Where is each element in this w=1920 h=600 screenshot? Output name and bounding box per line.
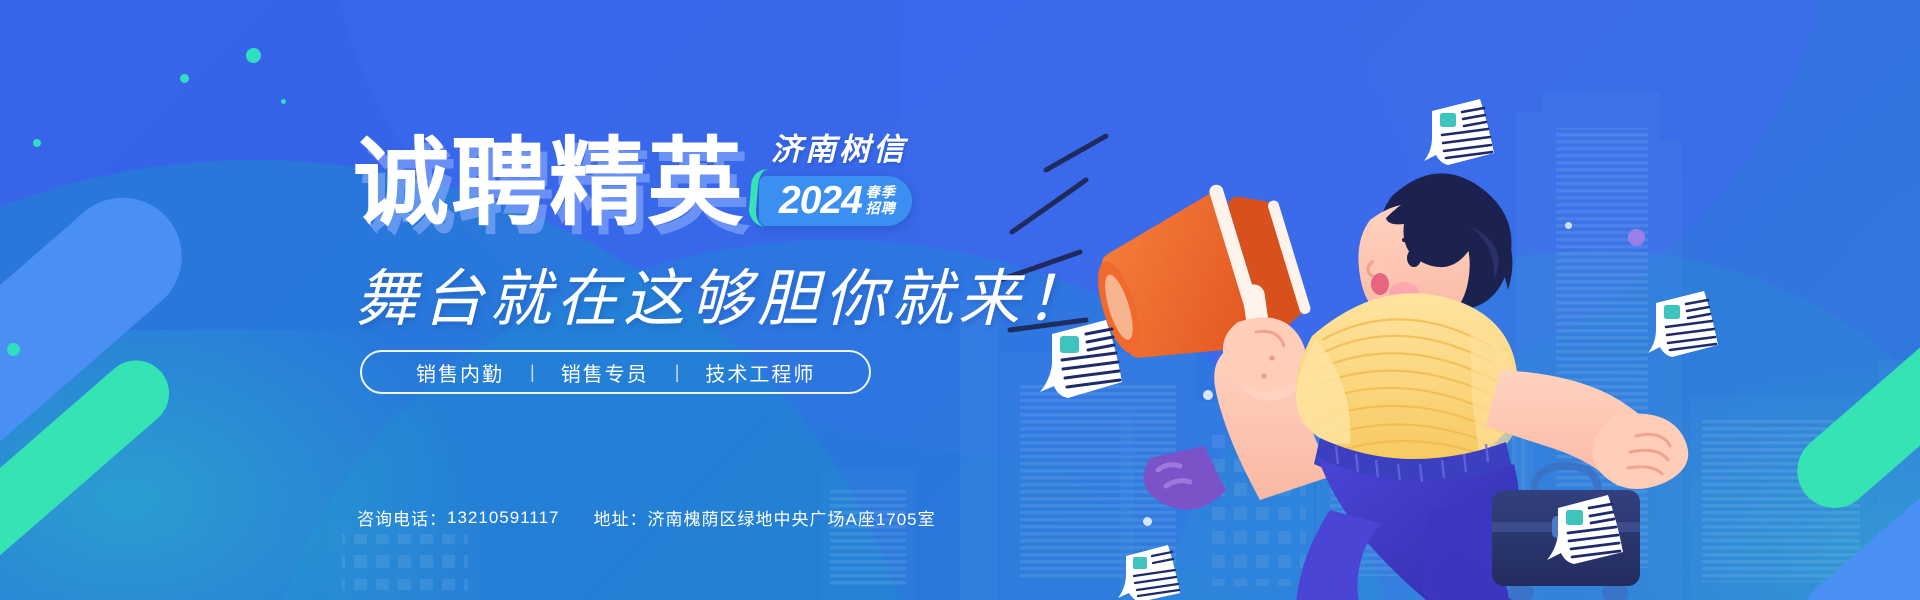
job-role-sales-support[interactable]: 销售内勤 — [390, 358, 530, 387]
badge-year: 2024 — [779, 181, 862, 220]
recruitment-banner: 诚聘精英 济南树信 2024 春季 招聘 舞台就在这够胆你就来！ 销售内勤 | … — [0, 0, 1920, 600]
resume-document-1 — [1418, 95, 1508, 181]
page-title: 诚聘精英 — [353, 136, 745, 232]
badge-subtext-line2: 招聘 — [866, 201, 896, 217]
resume-document-2 — [1640, 285, 1732, 373]
phone-label: 咨询电话： — [357, 505, 447, 530]
contact-info: 咨询电话： 13210591117 地址： 济南槐荫区绿地中央广场A座1705室 — [357, 505, 936, 530]
phone-value[interactable]: 13210591117 — [447, 508, 559, 528]
headline-row: 诚聘精英 济南树信 2024 春季 招聘 — [353, 124, 912, 232]
job-role-sales-specialist[interactable]: 销售专员 — [535, 358, 675, 387]
job-role-technical-engineer[interactable]: 技术工程师 — [679, 358, 841, 387]
resume-document-4 — [1540, 488, 1636, 580]
badge-subtext: 春季 招聘 — [866, 185, 896, 216]
page-subtitle: 舞台就在这够胆你就来！ — [355, 248, 1092, 338]
address-value: 济南槐荫区绿地中央广场A座1705室 — [647, 505, 935, 530]
badge-subtext-line1: 春季 — [866, 185, 896, 201]
banner-copy: 诚聘精英 济南树信 2024 春季 招聘 舞台就在这够胆你就来！ 销售内勤 | … — [0, 0, 1100, 600]
season-badge: 2024 春季 招聘 — [759, 176, 912, 226]
badge-accent-stroke — [748, 168, 784, 228]
resume-document-5 — [1112, 540, 1192, 600]
brand-badge-group: 济南树信 2024 春季 招聘 — [759, 124, 912, 226]
address-label: 地址： — [593, 505, 647, 530]
job-roles-pill[interactable]: 销售内勤 | 销售专员 | 技术工程师 — [360, 350, 871, 394]
brand-name: 济南树信 — [771, 124, 907, 169]
